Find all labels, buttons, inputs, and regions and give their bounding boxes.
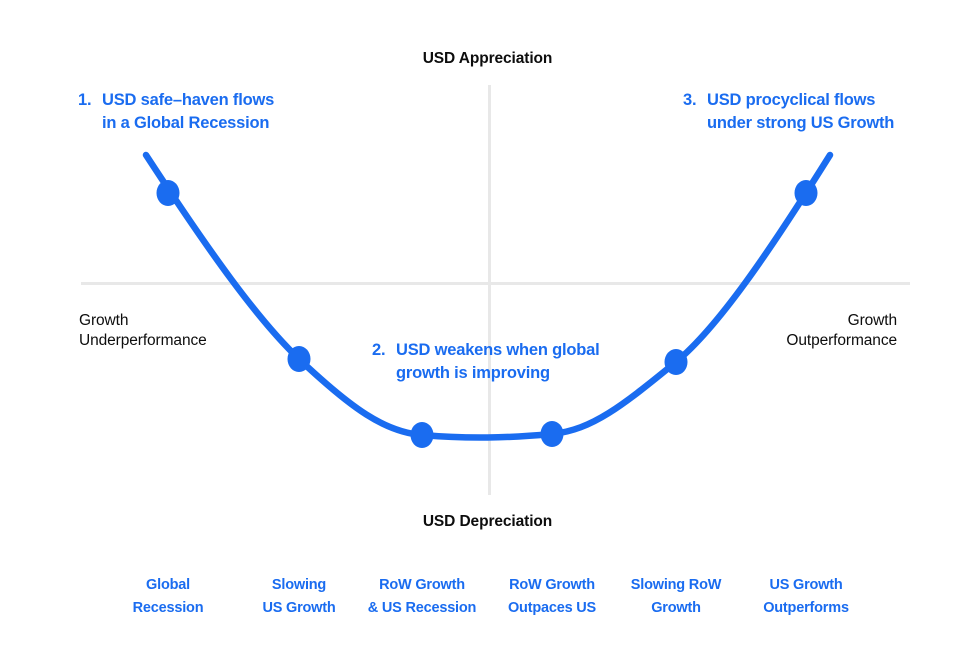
data-point [411,422,434,448]
growth-outperformance-line1: Growth [848,312,897,329]
data-point [795,180,818,206]
axis-label-usd-depreciation: USD Depreciation [0,513,975,531]
vertical-axis-line [488,85,491,495]
annotation-3-number: 3. [683,89,696,112]
annotation-1-number: 1. [78,89,91,112]
category-label-slowing-row-growth: Slowing RoW Growth [631,574,721,620]
axis-label-growth-underperformance: Growth Underperformance [79,311,207,351]
annotation-2-line1: USD weakens when global [396,339,600,362]
category-label-line1: RoW Growth [509,577,595,593]
horizontal-axis-line [81,282,910,285]
category-label-us-growth-outperforms: US Growth Outperforms [763,574,849,620]
annotation-1-line1: USD safe–haven flows [102,89,274,112]
annotation-2-line2: growth is improving [396,362,600,385]
category-label-line1: Slowing RoW [631,577,721,593]
category-label-row-growth-us-recession: RoW Growth & US Recession [368,574,476,620]
growth-outperformance-line2: Outperformance [786,332,897,349]
annotation-1-line2: in a Global Recession [102,112,274,135]
annotation-3-line1: USD procyclical flows [707,89,894,112]
category-label-line1: Slowing [272,577,326,593]
annotation-2: 2. USD weakens when global growth is imp… [372,339,600,385]
annotation-3-line2: under strong US Growth [707,112,894,135]
growth-underperformance-line1: Growth [79,312,128,329]
data-point-group [157,180,818,448]
category-label-row-growth-outpaces-us: RoW Growth Outpaces US [508,574,596,620]
category-label-line2: Outperforms [763,597,849,620]
category-label-line2: Outpaces US [508,597,596,620]
data-point [665,349,688,375]
category-label-line2: & US Recession [368,597,476,620]
annotation-1: 1. USD safe–haven flows in a Global Rece… [78,89,274,135]
annotation-2-number: 2. [372,339,385,362]
growth-underperformance-line2: Underperformance [79,332,207,349]
category-label-line1: US Growth [769,577,842,593]
category-label-slowing-us-growth: Slowing US Growth [262,574,335,620]
axis-label-growth-outperformance: Growth Outperformance [786,311,897,351]
category-label-line1: Global [146,577,190,593]
data-point [157,180,180,206]
category-label-line1: RoW Growth [379,577,465,593]
data-point [541,421,564,447]
category-label-global-recession: Global Recession [133,574,204,620]
axis-label-usd-appreciation: USD Appreciation [0,50,975,68]
category-label-line2: US Growth [262,597,335,620]
category-label-line2: Growth [631,597,721,620]
data-point [288,346,311,372]
category-label-line2: Recession [133,597,204,620]
chart-canvas: USD Appreciation USD Depreciation Growth… [0,0,975,660]
annotation-3: 3. USD procyclical flows under strong US… [683,89,894,135]
